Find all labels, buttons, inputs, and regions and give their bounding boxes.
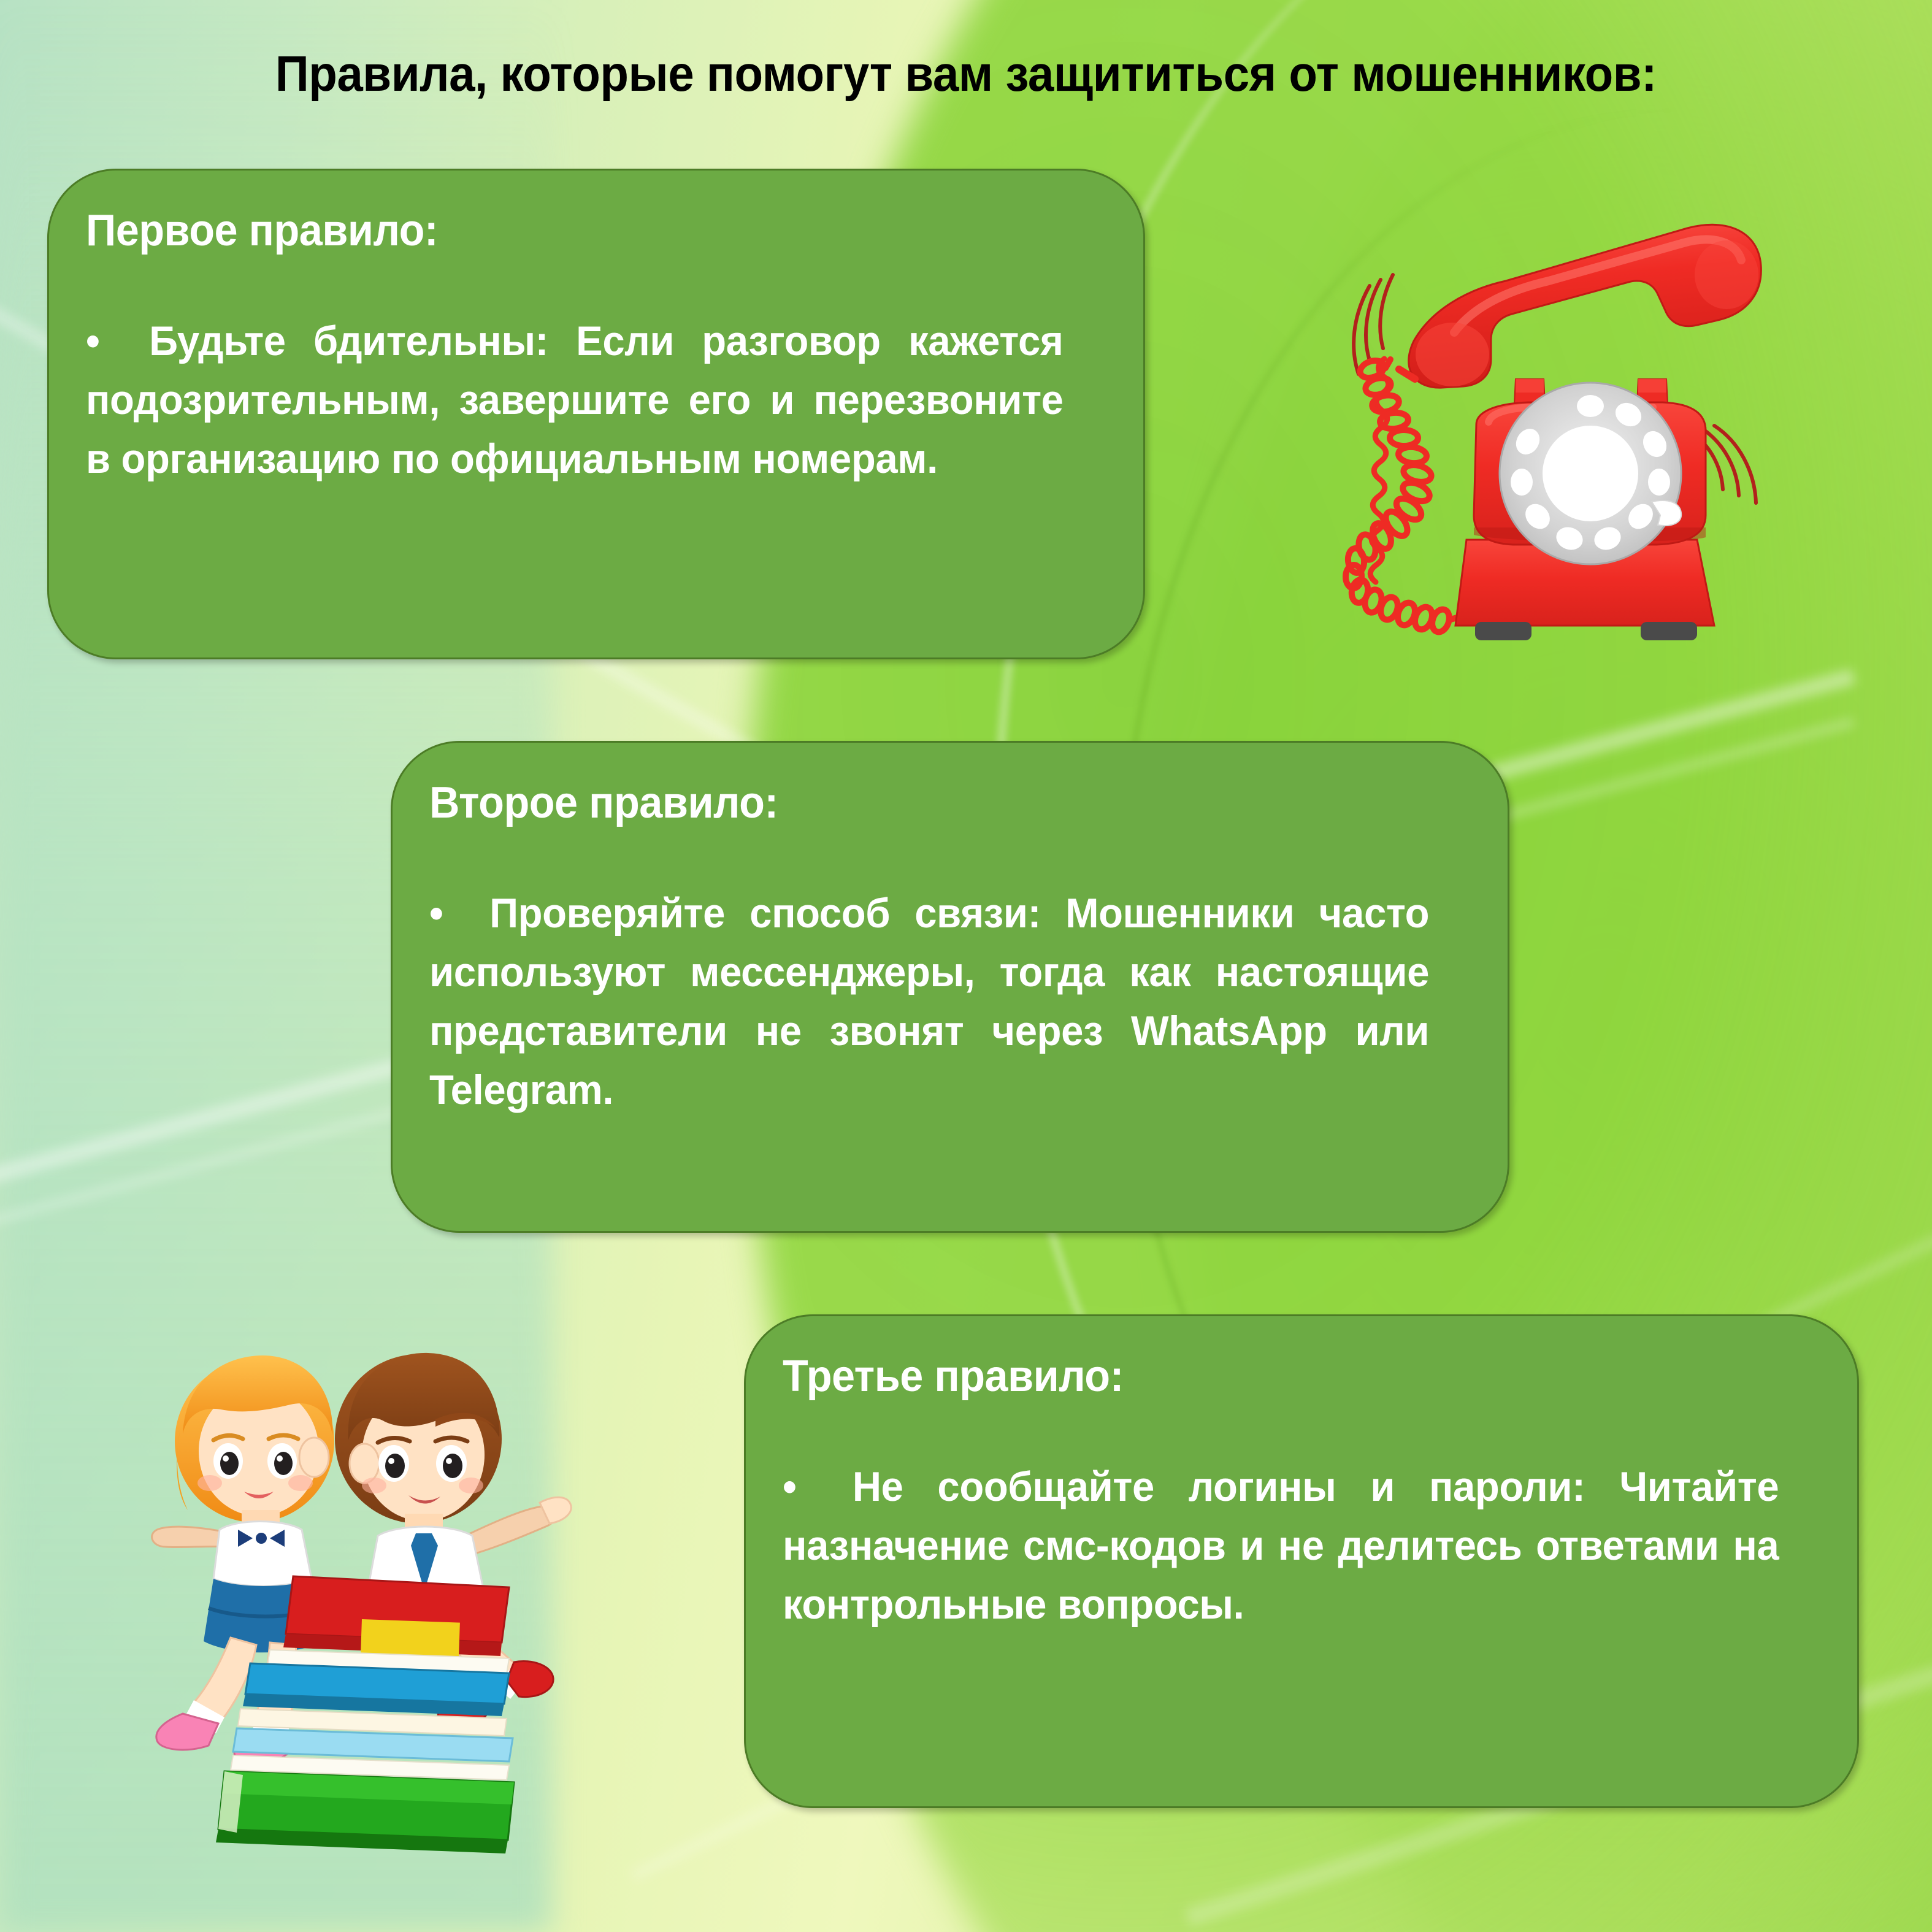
rule-card-first-body: • Будьте бдительны: Если разговор кажетс… (86, 312, 1065, 488)
rule-card-third-body: • Не сообщайте логины и пароли: Читайте … (783, 1457, 1779, 1634)
rule-card-first-title: Первое правило: (86, 209, 1056, 253)
rule-card-first: Первое правило: • Будьте бдительны: Если… (47, 169, 1145, 659)
rule-card-third: Третье правило: • Не сообщайте логины и … (744, 1314, 1859, 1808)
bullet-marker: • (86, 312, 121, 370)
bullet-marker: • (429, 884, 465, 943)
rule-card-third-text: Не сообщайте логины и пароли: Читайте на… (783, 1463, 1779, 1628)
rule-card-second-body: • Проверяйте способ связи: Мошенники час… (429, 884, 1429, 1119)
rule-card-third-title: Третье правило: (783, 1354, 1768, 1398)
telephone-foot (1641, 622, 1697, 640)
bullet-marker: • (783, 1457, 818, 1516)
telephone-handset (1399, 224, 1761, 388)
telephone-foot (1475, 622, 1531, 640)
telephone-base (1455, 379, 1714, 640)
rule-card-second: Второе правило: • Проверяйте способ связ… (391, 741, 1509, 1233)
children-on-books-illustration (117, 1331, 626, 1858)
rule-card-first-text: Будьте бдительны: Если разговор кажется … (86, 318, 1064, 482)
cord-helix (1345, 358, 1473, 634)
slide-canvas: Правила, которые помогут вам защититься … (0, 0, 1932, 1932)
rule-card-second-title: Второе правило: (429, 781, 1419, 825)
red-rotary-telephone-icon (1322, 196, 1776, 650)
rule-card-second-text: Проверяйте способ связи: Мошенники часто… (429, 890, 1429, 1113)
page-title: Правила, которые помогут вам защититься … (67, 48, 1865, 101)
